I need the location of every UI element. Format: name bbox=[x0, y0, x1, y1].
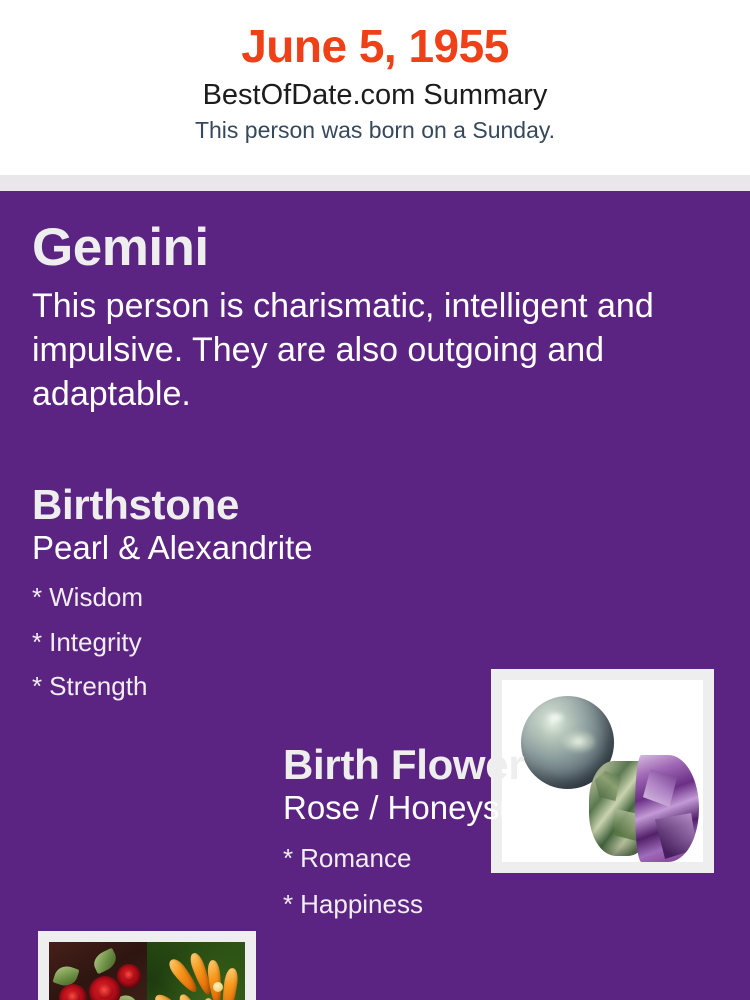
birth-flower-traits-list: *Romance *Happiness bbox=[283, 835, 703, 928]
bullet-star-icon: * bbox=[32, 582, 42, 612]
birthstone-trait-label: Wisdom bbox=[49, 582, 143, 612]
bullet-star-icon: * bbox=[283, 843, 293, 873]
page-title-date: June 5, 1955 bbox=[0, 20, 750, 73]
birth-flower-trait-label: Happiness bbox=[300, 889, 423, 919]
birth-flower-title: Birth Flower bbox=[283, 743, 703, 787]
birthstone-trait-label: Integrity bbox=[49, 627, 142, 657]
zodiac-description: This person is charismatic, intelligent … bbox=[32, 284, 697, 417]
zodiac-section: Gemini This person is charismatic, intel… bbox=[32, 221, 702, 417]
birthstone-section: Birthstone Pearl & Alexandrite *Wisdom *… bbox=[32, 483, 472, 709]
site-summary-label: BestOfDate.com Summary bbox=[0, 77, 750, 113]
birth-flower-trait-label: Romance bbox=[300, 843, 411, 873]
list-item: *Strength bbox=[32, 664, 472, 709]
birthstone-names: Pearl & Alexandrite bbox=[32, 529, 472, 567]
rose-icon bbox=[117, 964, 141, 988]
bullet-star-icon: * bbox=[32, 627, 42, 657]
honeysuckle-trumpet-icon bbox=[220, 967, 240, 1000]
birth-flower-names: Rose / Honeysuckle bbox=[283, 789, 703, 827]
list-item: *Happiness bbox=[283, 881, 703, 927]
birth-flower-image bbox=[49, 942, 245, 1000]
header-divider bbox=[0, 175, 750, 191]
honeysuckle-photo-half bbox=[147, 942, 245, 1000]
leaf-icon bbox=[90, 948, 119, 975]
list-item: *Integrity bbox=[32, 620, 472, 665]
birthstone-title: Birthstone bbox=[32, 483, 472, 527]
birthstone-trait-label: Strength bbox=[49, 671, 147, 701]
bullet-star-icon: * bbox=[32, 671, 42, 701]
list-item: *Wisdom bbox=[32, 575, 472, 620]
bullet-star-icon: * bbox=[283, 889, 293, 919]
birthstone-traits-list: *Wisdom *Integrity *Strength bbox=[32, 575, 472, 709]
summary-panel: Gemini This person is charismatic, intel… bbox=[0, 191, 750, 1000]
red-roses-photo-half bbox=[49, 942, 147, 1000]
birth-flower-section: Birth Flower Rose / Honeysuckle *Romance… bbox=[283, 743, 703, 928]
summary-header: June 5, 1955 BestOfDate.com Summary This… bbox=[0, 0, 750, 175]
list-item: *Romance bbox=[283, 835, 703, 881]
birth-flower-image-frame bbox=[38, 931, 256, 1000]
rose-icon bbox=[89, 976, 121, 1000]
flower-split-composite bbox=[49, 942, 245, 1000]
zodiac-sign-title: Gemini bbox=[32, 221, 702, 274]
pearl-highlight-icon bbox=[545, 711, 565, 724]
honeysuckle-bud-icon bbox=[213, 982, 223, 992]
born-day-line: This person was born on a Sunday. bbox=[0, 116, 750, 145]
rose-icon bbox=[59, 984, 87, 1000]
